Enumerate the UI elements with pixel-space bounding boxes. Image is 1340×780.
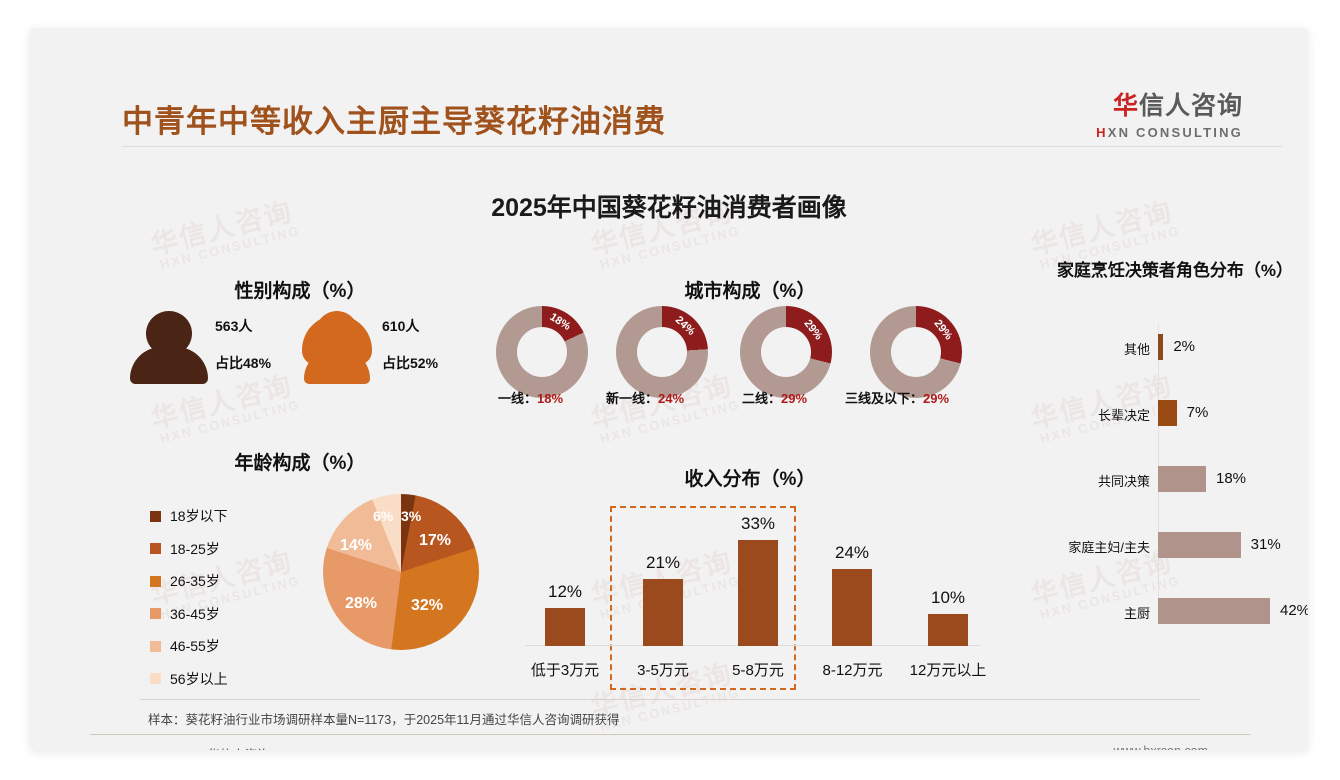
header-divider — [122, 146, 1282, 147]
slide-canvas: 华信人咨询HXN CONSULTING 华信人咨询HXN CONSULTING … — [30, 28, 1308, 750]
footer-divider — [90, 734, 1250, 735]
sample-note: 样本：葵花籽油行业市场调研样本量N=1173，于2025年11月通过华信人咨询调… — [148, 709, 620, 728]
role-bar-value: 2% — [1173, 338, 1195, 355]
age-pie-chart: 17% 32% 28% 14% 6% 3% — [323, 494, 479, 650]
note-divider — [140, 699, 1200, 700]
legend-label: 36-45岁 — [170, 604, 220, 624]
pie-slice-label: 28% — [345, 595, 377, 613]
role-section-title: 家庭烹饪决策者角色分布（%） — [1040, 260, 1308, 283]
logo-english-text: HXN CONSULTING — [1096, 125, 1243, 140]
income-bar-category: 12万元以上 — [893, 659, 1003, 680]
city-label: 一线： — [498, 391, 537, 406]
income-bar-category: 低于3万元 — [515, 659, 615, 680]
city-donut-caption: 新一线：24% — [606, 388, 684, 407]
city-donut-chart: 29% — [870, 306, 962, 398]
male-silhouette-icon — [130, 311, 208, 384]
income-bar — [545, 608, 585, 646]
city-donut-chart: 24% — [616, 306, 708, 398]
city-donut-caption: 三线及以下：29% — [845, 388, 949, 407]
city-donut-caption: 二线：29% — [742, 388, 807, 407]
role-bar-label: 家庭主妇/主夫 — [1015, 537, 1150, 556]
gender-section-title: 性别构成（%） — [160, 276, 440, 303]
legend-label: 56岁以上 — [170, 669, 228, 689]
pie-slice-label: 32% — [411, 597, 443, 615]
role-bar-value: 31% — [1251, 536, 1281, 553]
income-bar-value: 24% — [822, 543, 882, 563]
company-logo: 华信人咨询 HXN CONSULTING — [1096, 86, 1243, 140]
legend-item: 18岁以下 — [150, 506, 228, 526]
income-bar-category: 3-5万元 — [618, 659, 708, 680]
income-bar-value: 33% — [728, 514, 788, 534]
city-label: 二线： — [742, 391, 781, 406]
role-bar — [1158, 400, 1177, 426]
legend-swatch — [150, 511, 161, 522]
income-bar-value: 21% — [633, 553, 693, 573]
role-bar-value: 7% — [1187, 404, 1209, 421]
city-section-title: 城市构成（%） — [550, 276, 950, 303]
city-label: 新一线： — [606, 391, 658, 406]
income-bar-category: 5-8万元 — [713, 659, 803, 680]
role-bar — [1158, 532, 1241, 558]
role-bar-label: 主厨 — [1038, 603, 1150, 622]
legend-item: 56岁以上 — [150, 669, 228, 689]
income-bar — [832, 569, 872, 646]
income-bar — [738, 540, 778, 646]
income-section-title: 收入分布（%） — [570, 464, 930, 491]
income-bar — [643, 579, 683, 646]
copyright-text: ©2026.1 HXR华信人咨询 — [130, 744, 270, 750]
logo-en-rest: XN CONSULTING — [1108, 125, 1243, 140]
role-bar — [1158, 466, 1206, 492]
role-bar-label: 长辈决定 — [1038, 405, 1150, 424]
pie-slice-label: 6% — [373, 508, 393, 524]
website-url[interactable]: www.hxrcon.com — [1114, 744, 1208, 750]
legend-swatch — [150, 576, 161, 587]
logo-cn-rest: 信人咨询 — [1139, 92, 1243, 120]
legend-label: 18-25岁 — [170, 539, 220, 559]
pie-slice-label: 14% — [340, 537, 372, 555]
income-bar-category: 8-12万元 — [805, 659, 900, 680]
city-value: 18% — [537, 391, 563, 406]
age-legend: 18岁以下 18-25岁 26-35岁 36-45岁 46-55岁 56岁以上 — [150, 506, 228, 701]
male-share: 占比48% — [215, 353, 271, 373]
city-donut-chart: 18% — [496, 306, 588, 398]
female-count: 610人 — [382, 316, 419, 336]
city-donut-caption: 一线：18% — [498, 388, 563, 407]
logo-h-char: H — [1096, 125, 1108, 140]
legend-swatch — [150, 641, 161, 652]
role-bar-label: 共同决策 — [1038, 471, 1150, 490]
legend-label: 46-55岁 — [170, 636, 220, 656]
pie-slice-label: 17% — [419, 532, 451, 550]
age-section-title: 年龄构成（%） — [160, 448, 440, 475]
income-bar — [928, 614, 968, 646]
income-bar-chart: 12% 低于3万元 21% 3-5万元 33% 5-8万元 24% 8-12万元… — [500, 498, 1000, 698]
chart-subtitle: 2025年中国葵花籽油消费者画像 — [30, 188, 1308, 224]
legend-item: 18-25岁 — [150, 539, 228, 559]
legend-swatch — [150, 543, 161, 554]
city-donut-chart: 29% — [740, 306, 832, 398]
role-bar-label: 其他 — [1038, 339, 1150, 358]
role-bar-value: 42% — [1280, 602, 1308, 619]
city-label: 三线及以下： — [845, 391, 923, 406]
legend-swatch — [150, 673, 161, 684]
city-value: 29% — [923, 391, 949, 406]
female-silhouette-icon — [298, 311, 376, 384]
legend-item: 26-35岁 — [150, 571, 228, 591]
legend-label: 26-35岁 — [170, 571, 220, 591]
role-bar — [1158, 334, 1163, 360]
legend-item: 36-45岁 — [150, 604, 228, 624]
page-title: 中青年中等收入主厨主导葵花籽油消费 — [122, 96, 666, 141]
role-bar-value: 18% — [1216, 470, 1246, 487]
female-share: 占比52% — [382, 353, 438, 373]
role-bar — [1158, 598, 1270, 624]
city-value: 29% — [781, 391, 807, 406]
legend-item: 46-55岁 — [150, 636, 228, 656]
logo-chinese-text: 华信人咨询 — [1096, 86, 1243, 122]
legend-label: 18岁以下 — [170, 506, 228, 526]
income-bar-value: 10% — [918, 588, 978, 608]
pie-slice-label: 3% — [401, 508, 421, 524]
city-value: 24% — [658, 391, 684, 406]
income-bar-value: 12% — [535, 582, 595, 602]
male-count: 563人 — [215, 316, 252, 336]
logo-hua-char: 华 — [1113, 92, 1139, 120]
legend-swatch — [150, 608, 161, 619]
